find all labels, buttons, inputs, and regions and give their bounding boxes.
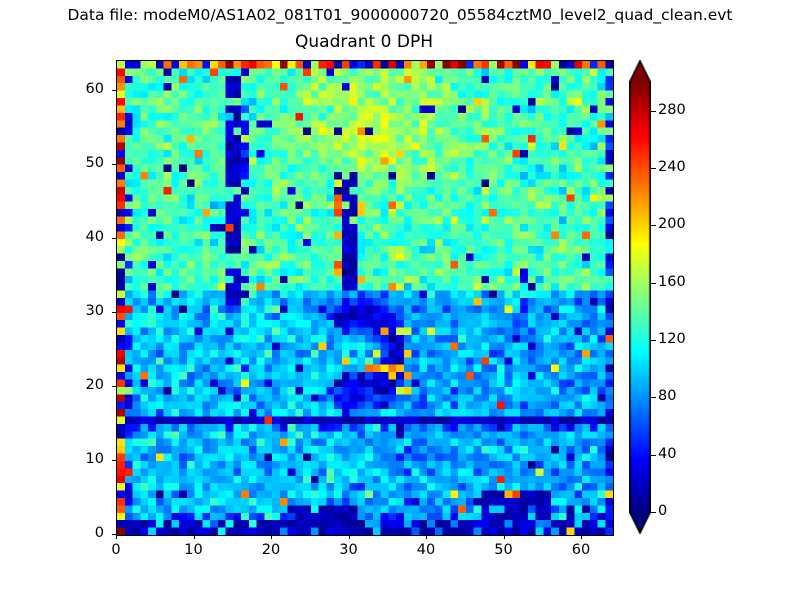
colorbar-tick-mark: [651, 168, 656, 169]
y-tick-mark: [112, 460, 116, 461]
colorbar-tick-label: 280: [658, 102, 686, 118]
y-tick-label: 60: [44, 81, 104, 97]
y-tick-label: 10: [44, 451, 104, 467]
x-tick-mark: [349, 535, 350, 539]
y-tick-label: 20: [44, 377, 104, 393]
dph-heatmap-image[interactable]: [117, 61, 613, 535]
y-tick-mark: [112, 90, 116, 91]
x-tick-label: 60: [551, 542, 611, 558]
y-tick-label: 50: [44, 155, 104, 171]
figure-suptitle: Data file: modeM0/AS1A02_081T01_90000007…: [0, 6, 800, 24]
colorbar-tick-mark: [651, 397, 656, 398]
colorbar-tick-label: 160: [658, 274, 686, 290]
x-tick-label: 20: [241, 542, 301, 558]
colorbar-tick-label: 240: [658, 159, 686, 175]
y-tick-mark: [112, 164, 116, 165]
colorbar-tick-mark: [651, 225, 656, 226]
x-tick-label: 10: [164, 542, 224, 558]
colorbar-tick-mark: [651, 455, 656, 456]
x-tick-label: 30: [319, 542, 379, 558]
colorbar-tick-mark: [651, 283, 656, 284]
x-tick-mark: [271, 535, 272, 539]
y-tick-mark: [112, 238, 116, 239]
x-tick-mark: [581, 535, 582, 539]
colorbar-tick-label: 200: [658, 216, 686, 232]
colorbar-tick-label: 40: [658, 446, 676, 462]
colorbar-tick-mark: [651, 111, 656, 112]
heatmap-axes[interactable]: [116, 60, 614, 536]
colorbar-gradient[interactable]: [629, 60, 651, 534]
y-tick-label: 0: [44, 525, 104, 541]
x-tick-label: 40: [396, 542, 456, 558]
axes-title: Quadrant 0 DPH: [116, 32, 612, 52]
x-tick-mark: [194, 535, 195, 539]
colorbar[interactable]: [629, 60, 651, 534]
colorbar-tick-mark: [651, 512, 656, 513]
y-tick-mark: [112, 534, 116, 535]
y-tick-mark: [112, 312, 116, 313]
x-tick-label: 0: [86, 542, 146, 558]
y-tick-label: 40: [44, 229, 104, 245]
colorbar-tick-label: 120: [658, 331, 686, 347]
colorbar-tick-mark: [651, 340, 656, 341]
colorbar-tick-label: 0: [658, 503, 667, 519]
figure-canvas: Data file: modeM0/AS1A02_081T01_90000007…: [0, 0, 800, 600]
y-tick-mark: [112, 386, 116, 387]
x-tick-mark: [116, 535, 117, 539]
colorbar-tick-label: 80: [658, 388, 676, 404]
x-tick-mark: [504, 535, 505, 539]
x-tick-label: 50: [474, 542, 534, 558]
x-tick-mark: [426, 535, 427, 539]
y-tick-label: 30: [44, 303, 104, 319]
